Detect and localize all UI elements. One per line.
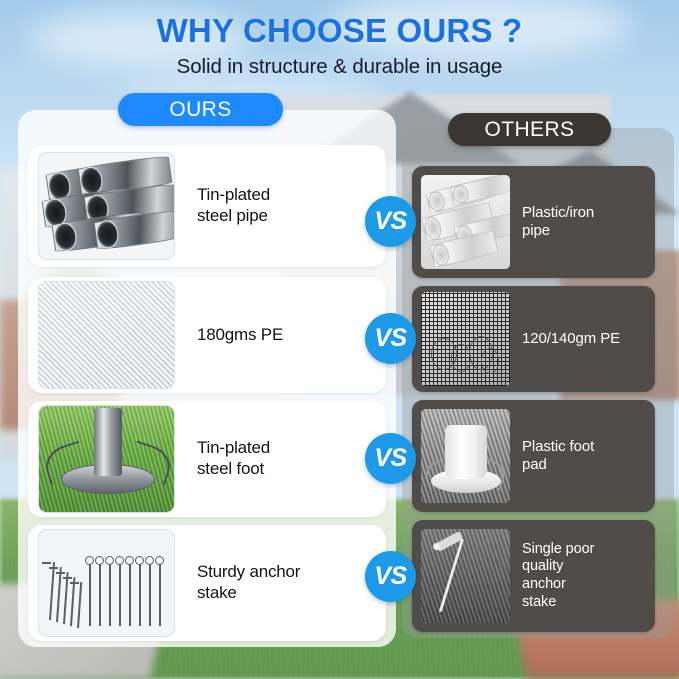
vs-badge-1: VS: [365, 196, 416, 247]
others-row-2: 120/140gm PE: [412, 286, 655, 392]
others-label-4: Single poor quality anchor stake: [522, 541, 594, 612]
ours-label-2: 180gms PE: [197, 325, 283, 346]
others-row-3: Plastic foot pad: [412, 400, 655, 512]
ours-label-1-line1: Tin-plated: [197, 185, 270, 206]
others-label-4-line2: quality: [522, 558, 594, 576]
stake-pin: [149, 564, 151, 626]
stake-pin: [119, 564, 121, 626]
page-title: WHY CHOOSE OURS ?: [0, 14, 679, 49]
vs-badge-2: VS: [365, 313, 416, 364]
open-mesh-pe-fabric-image: [421, 292, 510, 386]
others-label-1: Plastic/iron pipe: [522, 204, 594, 241]
others-badge: OTHERS: [448, 113, 611, 146]
others-label-4-line4: stake: [522, 594, 594, 612]
stake-pin: [89, 564, 91, 626]
ours-label-4-line2: stake: [197, 583, 300, 604]
stake-pin: [63, 572, 68, 624]
vs-badge-3: VS: [365, 433, 416, 484]
white-pvc-pipes-image: [421, 175, 510, 269]
ours-label-4: Sturdy anchor stake: [197, 562, 300, 603]
others-label-2-line1: 120/140gm PE: [522, 330, 620, 348]
ours-row-3: Tin-plated steel foot: [28, 401, 386, 517]
others-label-3-line1: Plastic foot: [522, 438, 594, 456]
stake-pin: [129, 564, 131, 626]
page-subtitle: Solid in structure & durable in usage: [0, 56, 679, 79]
others-label-1-line2: pipe: [522, 222, 594, 240]
others-label-3-line2: pad: [522, 456, 594, 474]
others-label-2: 120/140gm PE: [522, 330, 620, 348]
anchor-stakes-set-image: [38, 529, 175, 637]
ours-row-4: Sturdy anchor stake: [28, 525, 386, 641]
stake-pin: [159, 564, 161, 626]
ours-badge: OURS: [118, 93, 283, 126]
others-label-4-line1: Single poor: [522, 541, 594, 559]
woven-pe-fabric-image: [38, 281, 175, 389]
ours-label-1: Tin-plated steel pipe: [197, 185, 270, 226]
stake-pin: [56, 567, 61, 622]
stake-head: [49, 567, 58, 569]
stake-head: [70, 582, 79, 584]
ours-row-2: 180gms PE: [28, 277, 386, 393]
ours-row-1: Tin-plated steel pipe: [28, 145, 386, 267]
header: WHY CHOOSE OURS ? Solid in structure & d…: [0, 0, 679, 78]
stake-pin: [70, 577, 75, 626]
stake-pin: [49, 562, 55, 620]
stake-head: [42, 562, 51, 564]
others-label-1-line1: Plastic/iron: [522, 204, 594, 222]
ours-label-3: Tin-plated steel foot: [197, 438, 270, 479]
steel-foot-pad-on-grass-image: [38, 405, 175, 513]
others-row-1: Plastic/iron pipe: [412, 166, 655, 278]
stake-pin: [139, 564, 141, 626]
stake-head: [56, 572, 65, 574]
ours-label-4-line1: Sturdy anchor: [197, 562, 300, 583]
ours-label-3-line2: steel foot: [197, 459, 270, 480]
stake-pin: [77, 582, 82, 628]
vs-badge-4: VS: [365, 551, 416, 602]
stake-pin: [99, 564, 101, 626]
others-label-4-line3: anchor: [522, 576, 594, 594]
others-label-3: Plastic foot pad: [522, 438, 594, 475]
ours-label-3-line1: Tin-plated: [197, 438, 270, 459]
plastic-foot-pad-image: [421, 409, 510, 503]
others-row-4: Single poor quality anchor stake: [412, 520, 655, 632]
single-anchor-stake-in-grass-image: [421, 529, 510, 623]
stake-head: [63, 577, 72, 579]
stake-pin: [109, 564, 111, 626]
ours-label-1-line2: steel pipe: [197, 206, 270, 227]
ours-label-2-line1: 180gms PE: [197, 325, 283, 346]
steel-pipes-bundle-image: [38, 152, 175, 260]
